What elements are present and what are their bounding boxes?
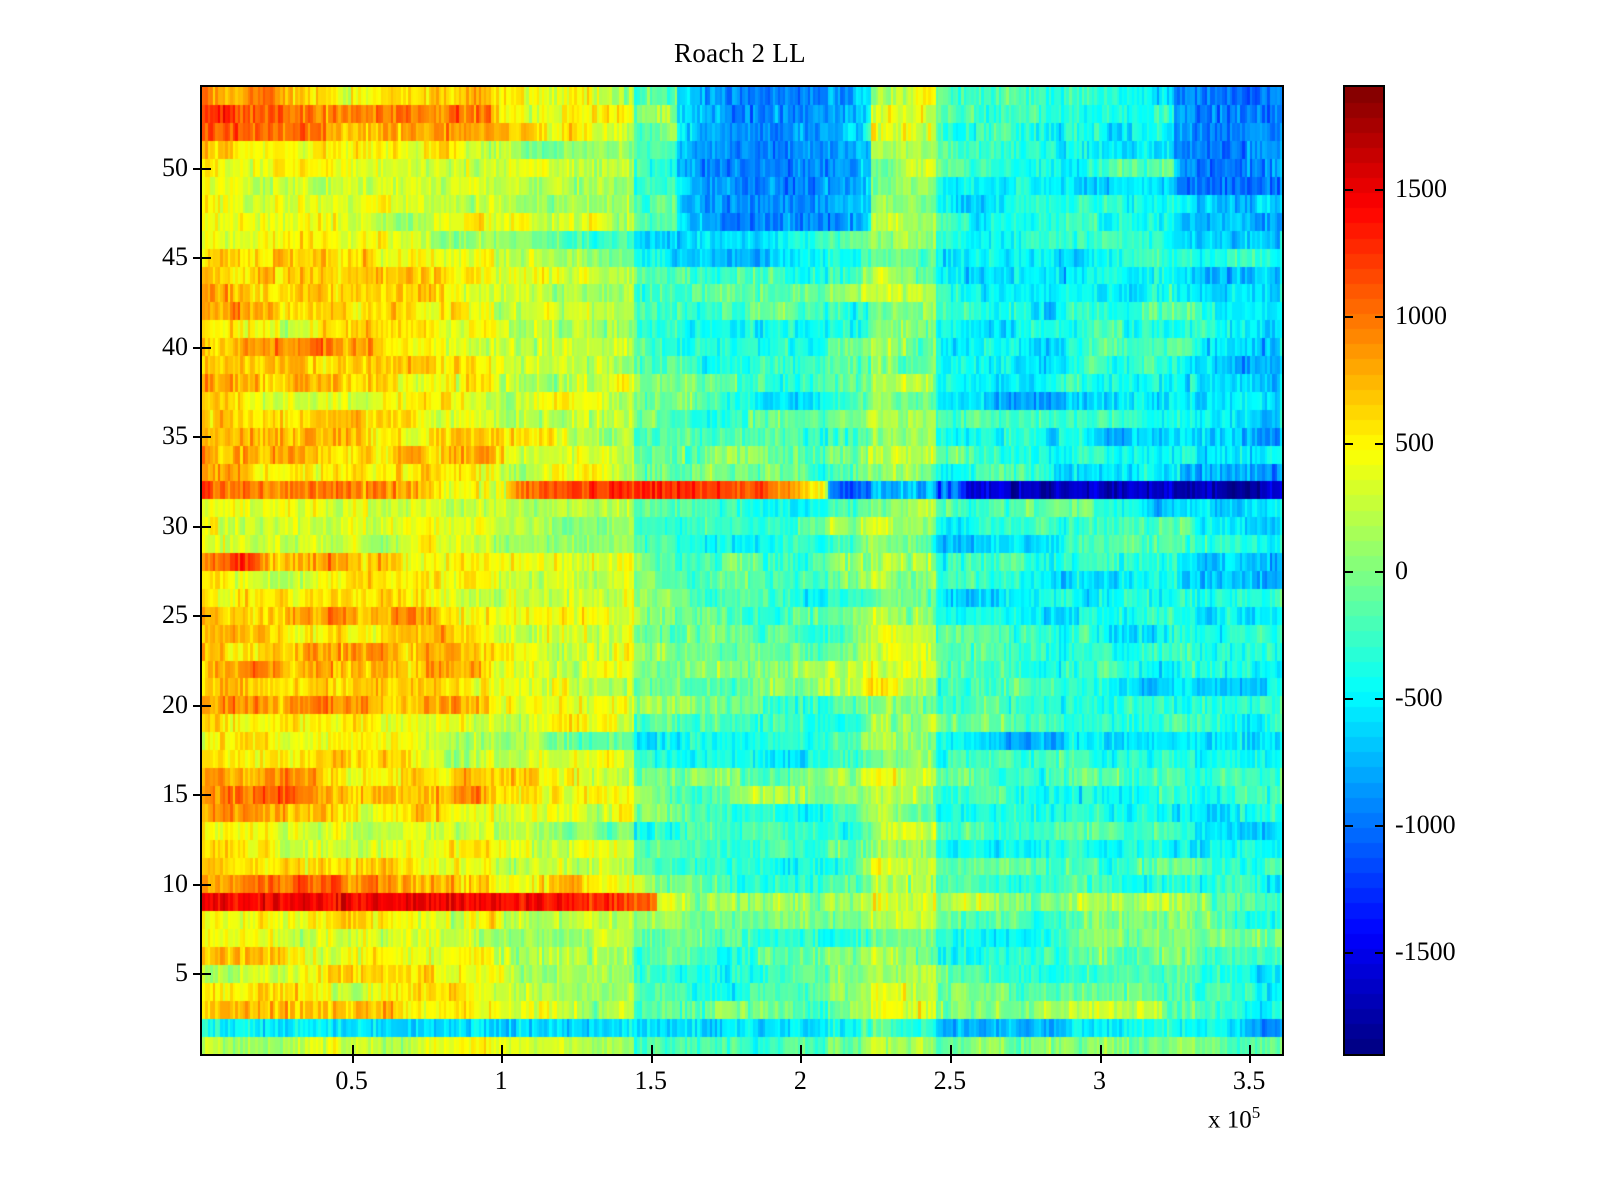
colorbar-tick-label: -1500 — [1395, 937, 1456, 967]
y-tick-label: 40 — [162, 332, 188, 362]
y-tick-label: 15 — [162, 779, 188, 809]
x-tick-mark-inner — [651, 1045, 653, 1054]
y-tick-mark-inner — [202, 705, 211, 707]
y-tick-label: 50 — [162, 153, 188, 183]
y-tick-mark — [193, 794, 202, 796]
colorbar-tick-mark — [1345, 952, 1353, 954]
colorbar-tick-mark — [1345, 571, 1353, 573]
y-tick-mark-inner — [202, 973, 211, 975]
colorbar-tick-label: 0 — [1395, 556, 1408, 586]
colorbar-tick-mark — [1345, 825, 1353, 827]
y-tick-mark — [193, 615, 202, 617]
x-tick-mark — [950, 1054, 952, 1063]
x-tick-mark — [1249, 1054, 1251, 1063]
x-tick-mark — [651, 1054, 653, 1063]
x-tick-mark-inner — [1100, 1045, 1102, 1054]
colorbar-tick-mark — [1345, 443, 1353, 445]
colorbar-tick-mark — [1375, 316, 1383, 318]
x-tick-label: 0.5 — [335, 1066, 368, 1096]
y-tick-mark — [193, 705, 202, 707]
x-tick-mark-inner — [950, 1045, 952, 1054]
y-tick-mark — [193, 347, 202, 349]
y-tick-label: 45 — [162, 242, 188, 272]
x-tick-label: 2.5 — [934, 1066, 967, 1096]
y-tick-label: 10 — [162, 869, 188, 899]
figure-canvas: Roach 2 LL 5101520253035404550 0.511.522… — [0, 0, 1600, 1200]
x-tick-label: 2 — [794, 1066, 807, 1096]
page-title: Roach 2 LL — [0, 38, 1480, 69]
x-tick-label: 1 — [495, 1066, 508, 1096]
colorbar-tick-mark — [1375, 698, 1383, 700]
colorbar-tick-mark — [1375, 571, 1383, 573]
x-tick-mark-inner — [800, 1045, 802, 1054]
x-tick-label: 3 — [1093, 1066, 1106, 1096]
colorbar-tick-label: 1500 — [1395, 174, 1447, 204]
x-tick-mark-inner — [501, 1045, 503, 1054]
x-tick-mark — [352, 1054, 354, 1063]
colorbar-tick-label: 1000 — [1395, 301, 1447, 331]
colorbar[interactable]: 150010005000-500-1000-1500 — [1343, 85, 1385, 1056]
y-tick-mark — [193, 526, 202, 528]
y-tick-mark-inner — [202, 347, 211, 349]
x-axis-exponent-mantissa: x 10 — [1208, 1106, 1252, 1133]
y-tick-mark-inner — [202, 257, 211, 259]
x-tick-mark — [1100, 1054, 1102, 1063]
y-tick-mark-inner — [202, 436, 211, 438]
y-tick-mark-inner — [202, 615, 211, 617]
y-tick-mark-inner — [202, 794, 211, 796]
x-axis-exponent-power: 5 — [1252, 1103, 1261, 1122]
x-tick-mark — [501, 1054, 503, 1063]
y-tick-mark-inner — [202, 884, 211, 886]
colorbar-tick-mark — [1345, 316, 1353, 318]
colorbar-tick-label: -500 — [1395, 683, 1443, 713]
x-tick-mark — [800, 1054, 802, 1063]
x-tick-label: 1.5 — [635, 1066, 668, 1096]
x-tick-label: 3.5 — [1233, 1066, 1266, 1096]
heatmap-image[interactable] — [202, 87, 1282, 1054]
y-tick-label: 30 — [162, 511, 188, 541]
y-tick-label: 25 — [162, 600, 188, 630]
y-tick-mark-inner — [202, 526, 211, 528]
colorbar-tick-mark — [1345, 189, 1353, 191]
y-tick-mark — [193, 436, 202, 438]
y-tick-mark — [193, 257, 202, 259]
colorbar-tick-mark — [1375, 952, 1383, 954]
y-tick-mark — [193, 884, 202, 886]
y-tick-mark — [193, 973, 202, 975]
colorbar-tick-label: 500 — [1395, 428, 1434, 458]
x-axis-exponent-label: x 105 — [1208, 1103, 1260, 1134]
x-tick-mark-inner — [1249, 1045, 1251, 1054]
colorbar-tick-mark — [1375, 443, 1383, 445]
y-tick-label: 5 — [175, 958, 188, 988]
y-tick-label: 20 — [162, 690, 188, 720]
colorbar-tick-mark — [1345, 698, 1353, 700]
y-tick-label: 35 — [162, 421, 188, 451]
colorbar-tick-mark — [1375, 825, 1383, 827]
heatmap-axes[interactable]: 5101520253035404550 0.511.522.533.5 — [200, 85, 1284, 1056]
x-tick-mark-inner — [352, 1045, 354, 1054]
y-tick-mark-inner — [202, 168, 211, 170]
y-tick-mark — [193, 168, 202, 170]
colorbar-tick-mark — [1375, 189, 1383, 191]
colorbar-tick-label: -1000 — [1395, 810, 1456, 840]
